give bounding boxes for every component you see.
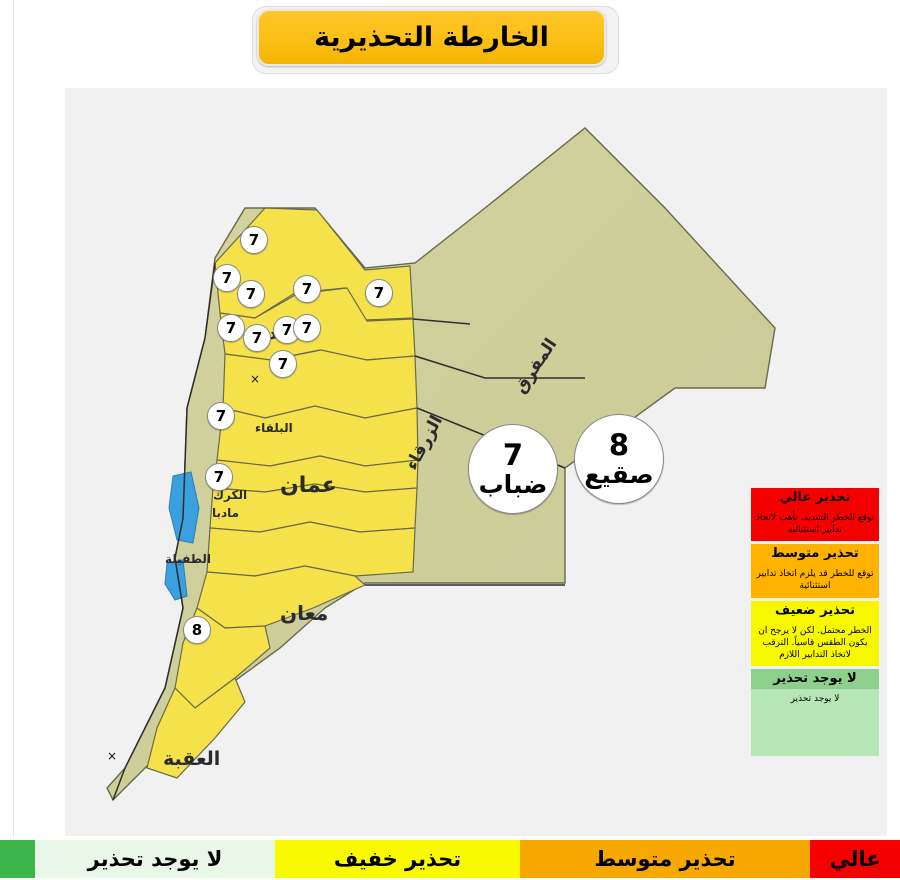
warning-marker-8-value: 7: [282, 321, 292, 339]
warning-marker-4[interactable]: 7: [293, 275, 321, 303]
page-title-text: الخارطة التحذيرية: [314, 22, 549, 53]
warning-marker-11-value: 7: [216, 407, 226, 425]
legend-medium-desc: توقع للخطر قد يلزم اتخاذ تدابير استثنائي…: [751, 564, 879, 597]
warning-marker-6-value: 7: [226, 319, 236, 337]
frost-marker-label: صقيع: [584, 462, 653, 487]
legend-medium-title: تحذير متوسط: [751, 544, 879, 564]
fog-marker[interactable]: 7 ضباب: [468, 424, 558, 514]
warning-marker-6[interactable]: 7: [217, 314, 245, 342]
warning-marker-10-value: 7: [278, 355, 288, 373]
warning-marker-12[interactable]: 7: [205, 463, 233, 491]
label-madaba: مادبا: [212, 506, 239, 520]
legend-panel: تحذير عالي توقع الخطر الشديد. تأهب لاتخا…: [751, 488, 879, 756]
warning-marker-2-value: 7: [222, 269, 232, 287]
legend-item-medium: تحذير متوسط توقع للخطر قد يلزم اتخاذ تدا…: [751, 544, 879, 597]
warning-marker-3-value: 7: [246, 285, 256, 303]
scale-light[interactable]: تحذير خفيف: [275, 838, 520, 880]
frost-marker[interactable]: 8 صقيع: [574, 414, 664, 504]
warning-marker-2[interactable]: 7: [213, 264, 241, 292]
warning-marker-10[interactable]: 7: [269, 350, 297, 378]
fog-marker-label: ضباب: [479, 472, 548, 497]
left-margin-strip: [0, 0, 14, 838]
legend-high-title: تحذير عالي: [751, 488, 879, 508]
scale-high[interactable]: عالي: [810, 838, 900, 880]
city-marker-amman: ×: [250, 372, 260, 386]
scale-medium[interactable]: تحذير متوسط: [520, 838, 810, 880]
legend-item-none: لا يوجد تحذير لا يوجد تحذير: [751, 669, 879, 756]
legend-none-title: لا يوجد تحذير: [751, 669, 879, 689]
warning-marker-14[interactable]: 8: [183, 616, 211, 644]
warning-marker-5-value: 7: [374, 284, 384, 302]
label-aqaba: العقبة: [163, 748, 220, 770]
warning-marker-5[interactable]: 7: [365, 279, 393, 307]
city-marker-aqaba: ×: [107, 749, 117, 763]
warning-scale-bar: لا يوجد تحذير تحذير خفيف تحذير متوسط عال…: [0, 838, 900, 880]
legend-low-desc: الخطر محتمل. لكن لا يرجح ان يكون الطقس ق…: [751, 621, 879, 666]
legend-none-desc: لا يوجد تحذير: [751, 689, 879, 756]
scale-none[interactable]: لا يوجد تحذير: [35, 838, 275, 880]
label-tafila: الطفيلة: [165, 552, 211, 566]
legend-item-low: تحذير ضعيف الخطر محتمل. لكن لا يرجح ان ي…: [751, 601, 879, 666]
page-title: الخارطة التحذيرية: [257, 9, 606, 66]
label-maan: معان: [280, 601, 328, 625]
fog-marker-value: 7: [503, 441, 523, 470]
label-balqa: البلقاء: [255, 421, 293, 435]
frost-marker-value: 8: [609, 431, 629, 460]
warning-marker-9-value: 7: [302, 319, 312, 337]
label-amman: عمان: [280, 473, 337, 498]
warning-marker-1-value: 7: [249, 231, 259, 249]
warning-marker-7-value: 7: [252, 329, 262, 347]
warning-marker-14-value: 8: [192, 621, 202, 639]
warning-marker-7[interactable]: 7: [243, 324, 271, 352]
legend-low-title: تحذير ضعيف: [751, 601, 879, 621]
warning-marker-9[interactable]: 7: [293, 314, 321, 342]
scale-swatch-green: [0, 838, 35, 880]
warning-marker-3[interactable]: 7: [237, 280, 265, 308]
warning-marker-12-value: 7: [214, 468, 224, 486]
warning-map: أربد المفرق البلقاء الزرقاء عمان مادبا ا…: [65, 88, 887, 836]
warning-marker-11[interactable]: 7: [207, 402, 235, 430]
legend-item-high: تحذير عالي توقع الخطر الشديد. تأهب لاتخا…: [751, 488, 879, 541]
warning-marker-1[interactable]: 7: [240, 226, 268, 254]
warning-marker-4-value: 7: [302, 280, 312, 298]
legend-high-desc: توقع الخطر الشديد. تأهب لاتخاذ تدابير اس…: [751, 508, 879, 541]
